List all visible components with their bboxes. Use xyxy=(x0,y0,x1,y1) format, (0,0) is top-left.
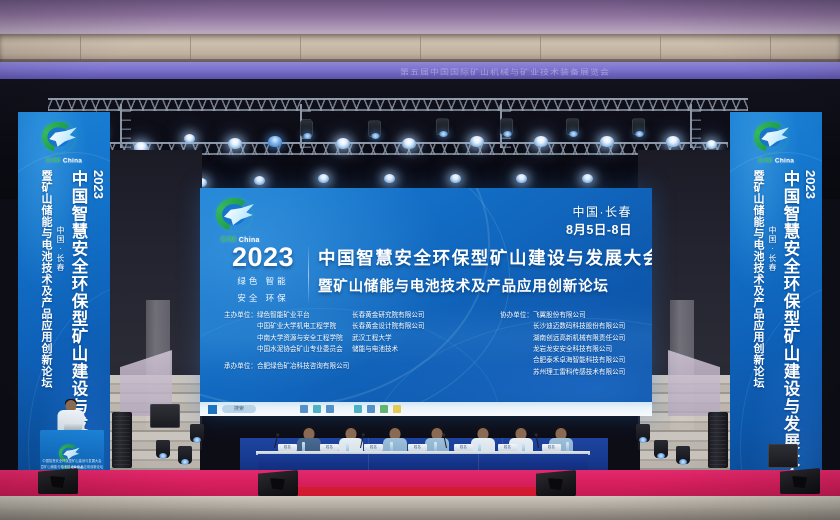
banner-right-text: 2023 中国智慧安全环保型矿山建设与发展大会 中国·长春 暨矿山储能与电池技术… xyxy=(730,170,822,480)
sponsor-item: 长沙迪迈数码科技股份有限公司 xyxy=(533,321,625,332)
speaker-grill xyxy=(710,415,726,465)
floor-moving-head-light xyxy=(654,440,668,458)
stage-light xyxy=(318,174,329,183)
sponsor-item: 湖南创远高新机械有限责任公司 xyxy=(533,333,625,344)
stage-light xyxy=(336,138,350,149)
organizer-line: 承办单位：合肥绿色矿冶科技咨询有限公司 xyxy=(224,360,349,370)
moving-head-fixture xyxy=(632,118,645,135)
gim-china-logo: GIM China xyxy=(38,122,90,164)
sponsor-item: 合肥泰禾卓海智能科技有限公司 xyxy=(533,355,625,366)
water-bottle xyxy=(566,442,569,451)
floor-moving-head-light xyxy=(178,446,192,464)
event-title-sub: 暨矿山储能与电池技术及产品应用创新论坛 xyxy=(318,275,652,296)
event-title-row: 2023 绿色 智能 安全 环保 中国智慧安全环保型矿山建设与发展大会 暨矿山储… xyxy=(222,244,652,305)
taskbar-search-box[interactable]: 搜索 xyxy=(222,405,256,413)
line-array-speaker xyxy=(708,412,728,468)
co-sponsor-items: 飞翼股份有限公司 长沙迪迈数码科技股份有限公司 湖南创远高新机械有限责任公司 龙… xyxy=(533,310,625,378)
floor-moving-head-light xyxy=(156,440,170,458)
sponsor-item: 储能与电池技术 xyxy=(352,344,425,355)
app-icon[interactable] xyxy=(313,405,321,413)
moving-head-fixture xyxy=(300,120,313,137)
organizer-value: 合肥绿色矿冶科技咨询有限公司 xyxy=(257,363,349,370)
ceiling-beam xyxy=(0,34,840,62)
co-sponsor-label: 协办单位： xyxy=(500,310,533,378)
road-case xyxy=(150,404,180,428)
nameplate: 姓名 xyxy=(278,444,297,451)
sponsor-item: 中国矿业大学机电工程学院 xyxy=(257,321,343,332)
co-sponsor-group: 协办单位： 飞翼股份有限公司 长沙迪迈数码科技股份有限公司 湖南创远高新机械有限… xyxy=(500,310,638,378)
title-divider xyxy=(308,246,309,303)
banner-right-year: 2023 xyxy=(803,170,818,480)
banner-right-location: 中国·长春 xyxy=(767,226,778,272)
host-sponsor-col2-group: 长春黄金研究院有限公司 长春黄金设计院有限公司 武汉工程大学 储能与电池技术 xyxy=(352,310,500,378)
sponsor-item: 苏州理工雷科传感技术有限公司 xyxy=(533,367,625,378)
speaker-grill xyxy=(114,415,130,465)
event-location: 中国·长春 xyxy=(566,204,632,221)
water-bottle xyxy=(302,442,305,451)
stage-light xyxy=(450,174,461,183)
overhead-banner-text: 第五届中国国际矿山机械与矿业技术装备展览会 xyxy=(400,66,610,77)
moving-head-fixture xyxy=(566,118,579,135)
nameplate: 姓名 xyxy=(320,444,339,451)
stage-light xyxy=(706,140,717,149)
podium-title-line2: 暨矿山储能与电池技术及产品应用创新论坛 xyxy=(40,464,104,469)
gim-china-logo: GIM China xyxy=(212,198,268,244)
moving-head-fixture xyxy=(500,118,513,135)
banner-right-title-sub: 暨矿山储能与电池技术及产品应用创新论坛 xyxy=(750,170,766,480)
organizer-label: 承办单位： xyxy=(224,363,257,370)
edge-icon[interactable] xyxy=(326,405,334,413)
lighting-truss-upper xyxy=(48,98,748,111)
stage-light xyxy=(600,136,614,147)
floor-moving-head-light xyxy=(190,424,204,442)
stage-light xyxy=(470,136,484,147)
event-location-date: 中国·长春 8月5日-8日 xyxy=(566,204,632,240)
event-title-main: 中国智慧安全环保型矿山建设与发展大会 xyxy=(318,245,652,270)
stage-light xyxy=(228,138,242,149)
event-title-block: 中国智慧安全环保型矿山建设与发展大会 暨矿山储能与电池技术及产品应用创新论坛 xyxy=(318,244,652,296)
nameplate: 姓名 xyxy=(408,444,427,451)
logo-wordmark-cn: China xyxy=(775,158,794,164)
sponsor-item: 中南大学资源与安全工程学院 xyxy=(257,333,343,344)
stage-light xyxy=(268,136,282,147)
stage-monitor-speaker xyxy=(38,468,78,494)
banner-right-title-main: 中国智慧安全环保型矿山建设与发展大会 xyxy=(778,170,802,480)
sponsor-item: 长春黄金研究院有限公司 xyxy=(352,310,425,321)
hall-ceiling: 第五届中国国际矿山机械与矿业技术装备展览会 xyxy=(0,0,840,80)
stage-light xyxy=(384,174,395,183)
nameplate: 姓名 xyxy=(542,444,561,451)
stage-light xyxy=(666,136,680,147)
water-bottle xyxy=(434,442,437,451)
banner-left-location: 中国·长春 xyxy=(55,226,66,272)
nameplate: 姓名 xyxy=(498,444,517,451)
stage-light xyxy=(184,134,195,143)
sponsor-item: 飞翼股份有限公司 xyxy=(533,310,625,321)
mail-icon[interactable] xyxy=(367,405,375,413)
stage-light xyxy=(516,174,527,183)
folder-icon[interactable] xyxy=(300,405,308,413)
floor-moving-head-light xyxy=(676,446,690,464)
truss-vertical-right xyxy=(690,104,701,148)
stage-light xyxy=(582,174,593,183)
stage-monitor-speaker xyxy=(780,468,820,494)
logo-wordmark: GIM China xyxy=(38,156,90,164)
logo-wordmark-cn: China xyxy=(63,158,82,164)
truss-vertical-left xyxy=(120,104,131,148)
sponsor-item: 绿色智能矿业平台 xyxy=(257,310,343,321)
road-case xyxy=(768,444,798,468)
water-bottle xyxy=(346,442,349,451)
sponsor-item: 中国水泥协会矿山专业委员会 xyxy=(257,344,343,355)
water-bottle xyxy=(522,442,525,451)
podium-title-line1: 中国智慧安全环保型矿山建设与发展大会 xyxy=(40,458,104,463)
event-slogan-line1: 绿色 智能 xyxy=(222,275,304,288)
conference-stage-photo: 第五届中国国际矿山机械与矿业技术装备展览会 xyxy=(0,0,840,520)
sponsor-item: 长春黄金设计院有限公司 xyxy=(352,321,425,332)
host-sponsor-col2: 长春黄金研究院有限公司 长春黄金设计院有限公司 武汉工程大学 储能与电池技术 xyxy=(352,310,425,378)
logo-wordmark-en: GIM xyxy=(758,156,773,164)
main-led-screen: GIM China 中国·长春 8月5日-8日 2023 绿色 智能 安全 环保… xyxy=(200,188,652,416)
notes-icon[interactable] xyxy=(393,405,401,413)
store-icon[interactable] xyxy=(354,405,362,413)
chrome-icon[interactable] xyxy=(380,405,388,413)
line-array-speaker xyxy=(112,412,132,468)
water-bottle xyxy=(390,442,393,451)
panel-table-area: 姓名 姓名 姓名 姓名 姓名 姓名 姓名 xyxy=(258,418,588,476)
stage-light xyxy=(402,138,416,149)
floor-moving-head-light xyxy=(636,424,650,442)
event-year: 2023 xyxy=(222,244,304,271)
vertical-banner-right: GIM China 2023 中国智慧安全环保型矿山建设与发展大会 中国·长春 … xyxy=(730,112,822,487)
event-date: 8月5日-8日 xyxy=(566,221,632,239)
start-icon[interactable] xyxy=(208,405,217,414)
windows-taskbar[interactable]: 搜索 xyxy=(200,402,652,416)
moving-head-fixture xyxy=(436,118,449,135)
table-microphone xyxy=(536,435,539,448)
gim-china-logo: GIM China xyxy=(750,122,802,164)
sponsor-item: 龙岩龙安安全科技有限公司 xyxy=(533,344,625,355)
event-slogan-line2: 安全 环保 xyxy=(222,292,304,305)
logo-wordmark: GIM China xyxy=(750,156,802,164)
event-year-block: 2023 绿色 智能 安全 环保 xyxy=(222,244,304,305)
nameplate: 姓名 xyxy=(454,444,473,451)
stage-monitor-speaker xyxy=(536,470,576,496)
nameplate: 姓名 xyxy=(364,444,383,451)
stage-light xyxy=(534,136,548,147)
stage-light xyxy=(254,176,265,185)
sponsor-item: 武汉工程大学 xyxy=(352,333,425,344)
overhead-banner: 第五届中国国际矿山机械与矿业技术装备展览会 xyxy=(0,62,840,79)
stage-monitor-speaker xyxy=(258,470,298,496)
moving-head-fixture xyxy=(368,120,381,137)
logo-wordmark-en: GIM xyxy=(46,156,61,164)
front-step xyxy=(0,508,840,520)
water-bottle xyxy=(478,442,481,451)
